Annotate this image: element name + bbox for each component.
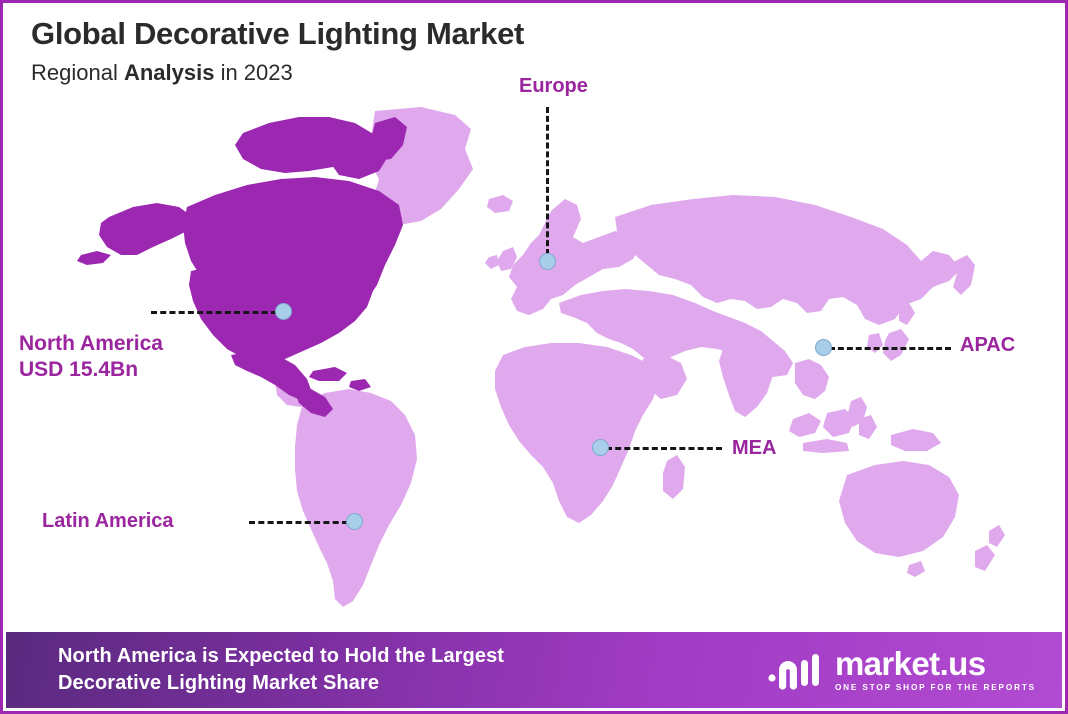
region-label-north-america-line1: North America bbox=[19, 331, 163, 357]
region-label-europe-text: Europe bbox=[519, 75, 588, 97]
region-label-europe: Europe bbox=[519, 74, 588, 99]
header: Global Decorative Lighting Market Region… bbox=[31, 17, 524, 86]
logo-tagline: ONE STOP SHOP FOR THE REPORTS bbox=[835, 684, 1036, 692]
region-label-mea-text: MEA bbox=[732, 437, 776, 459]
marker-latin-america[interactable] bbox=[346, 513, 363, 530]
infographic-card: Global Decorative Lighting Market Region… bbox=[0, 0, 1068, 714]
page-subtitle: Regional Analysis in 2023 bbox=[31, 60, 524, 86]
connector-apac bbox=[829, 347, 951, 350]
connector-mea bbox=[606, 447, 722, 450]
region-label-latin-america-text: Latin America bbox=[42, 510, 174, 532]
marker-europe[interactable] bbox=[539, 253, 556, 270]
connector-europe bbox=[546, 107, 549, 255]
market-us-logo-icon bbox=[767, 648, 825, 692]
subtitle-strong: Analysis bbox=[124, 60, 215, 85]
connector-north-america bbox=[151, 311, 277, 314]
region-label-mea: MEA bbox=[732, 436, 776, 461]
marker-apac[interactable] bbox=[815, 339, 832, 356]
market-us-logo[interactable]: market.us ONE STOP SHOP FOR THE REPORTS bbox=[767, 647, 1036, 692]
subtitle-prefix: Regional bbox=[31, 60, 124, 85]
banner-text-line1: North America is Expected to Hold the La… bbox=[58, 643, 504, 670]
market-us-logo-text: market.us ONE STOP SHOP FOR THE REPORTS bbox=[835, 647, 1036, 692]
page-title: Global Decorative Lighting Market bbox=[31, 17, 524, 51]
region-label-north-america-value: USD 15.4Bn bbox=[19, 357, 163, 383]
region-label-north-america: North America USD 15.4Bn bbox=[19, 331, 163, 384]
banner-text-line2: Decorative Lighting Market Share bbox=[58, 670, 504, 697]
marker-north-america[interactable] bbox=[275, 303, 292, 320]
region-label-apac-text: APAC bbox=[960, 334, 1015, 356]
region-label-apac: APAC bbox=[960, 333, 1015, 358]
subtitle-suffix: in 2023 bbox=[214, 60, 292, 85]
marker-mea[interactable] bbox=[592, 439, 609, 456]
region-label-latin-america: Latin America bbox=[42, 509, 174, 534]
bottom-banner: North America is Expected to Hold the La… bbox=[6, 632, 1062, 708]
logo-wordmark: market.us bbox=[835, 647, 1036, 680]
connector-latin-america bbox=[249, 521, 348, 524]
banner-text: North America is Expected to Hold the La… bbox=[58, 643, 504, 697]
region-annotations: North America USD 15.4Bn Europe APAC MEA… bbox=[3, 3, 1068, 714]
